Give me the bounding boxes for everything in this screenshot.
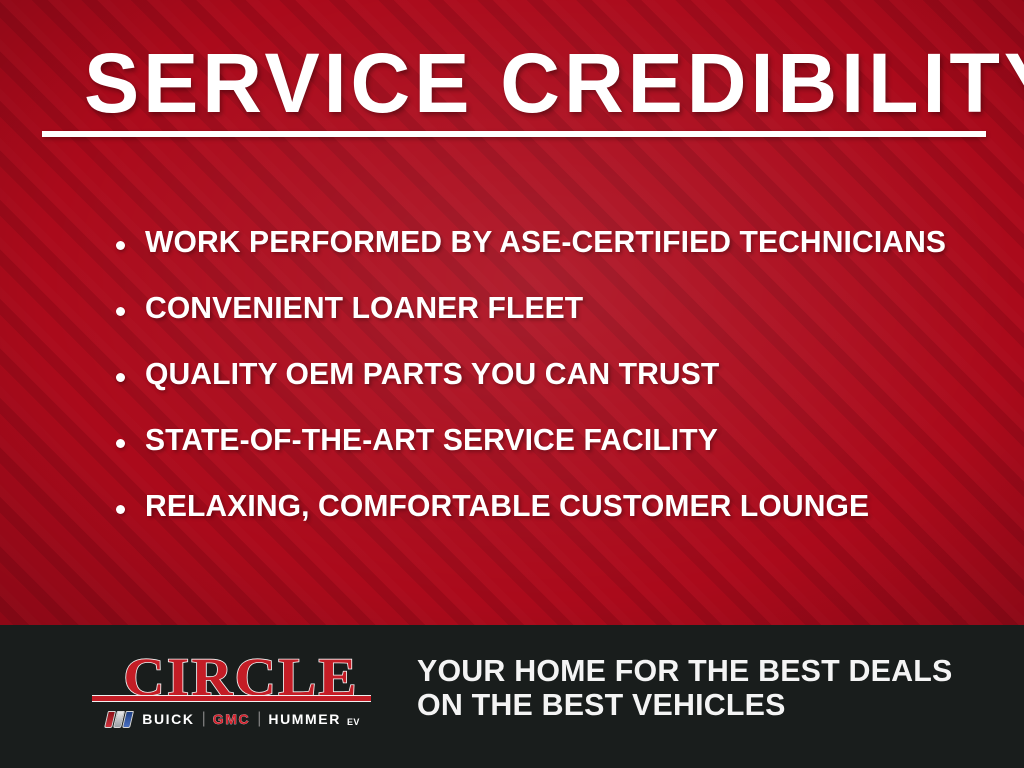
bullet-text: WORK PERFORMED BY ASE-CERTIFIED TECHNICI… bbox=[145, 225, 946, 258]
dealer-logo: CIRCLE BUICK | GMC | HUMMER EV bbox=[90, 650, 375, 736]
tagline-line-1: YOUR HOME FOR THE BEST DEALS bbox=[417, 654, 952, 688]
list-item: QUALITY OEM PARTS YOU CAN TRUST bbox=[116, 357, 996, 423]
bullet-text: CONVENIENT LOANER FLEET bbox=[145, 291, 583, 324]
brand-separator: | bbox=[202, 711, 206, 727]
bullet-text: QUALITY OEM PARTS YOU CAN TRUST bbox=[145, 357, 719, 390]
tagline-line-2: ON THE BEST VEHICLES bbox=[417, 688, 952, 722]
list-item: WORK PERFORMED BY ASE-CERTIFIED TECHNICI… bbox=[116, 225, 996, 291]
brand-separator: | bbox=[257, 711, 261, 727]
brand-hummer: HUMMER bbox=[268, 712, 341, 726]
buick-tri-shield-icon bbox=[106, 711, 132, 728]
list-item: RELAXING, COMFORTABLE CUSTOMER LOUNGE bbox=[116, 489, 996, 555]
bullet-dot-icon bbox=[116, 439, 125, 448]
slide-canvas: SERVICE CREDIBILITY WORK PERFORMED BY AS… bbox=[0, 0, 1024, 768]
bullet-dot-icon bbox=[116, 307, 125, 316]
bullet-list: WORK PERFORMED BY ASE-CERTIFIED TECHNICI… bbox=[116, 225, 996, 555]
footer-tagline: YOUR HOME FOR THE BEST DEALS ON THE BEST… bbox=[417, 654, 952, 722]
brand-hummer-ev-suffix: EV bbox=[347, 717, 360, 727]
list-item: STATE-OF-THE-ART SERVICE FACILITY bbox=[116, 423, 996, 489]
logo-underline-bar bbox=[92, 695, 371, 702]
bullet-text: RELAXING, COMFORTABLE CUSTOMER LOUNGE bbox=[145, 489, 869, 522]
bullet-dot-icon bbox=[116, 505, 125, 514]
title-underline-rule bbox=[42, 131, 986, 137]
brand-gmc: GMC bbox=[213, 712, 250, 726]
brand-buick: BUICK bbox=[142, 712, 194, 726]
bullet-text: STATE-OF-THE-ART SERVICE FACILITY bbox=[145, 423, 718, 456]
bullet-dot-icon bbox=[116, 373, 125, 382]
slide-title: SERVICE CREDIBILITY bbox=[84, 40, 951, 126]
bullet-dot-icon bbox=[116, 241, 125, 250]
list-item: CONVENIENT LOANER FLEET bbox=[116, 291, 996, 357]
brand-strip: BUICK | GMC | HUMMER EV bbox=[92, 707, 374, 731]
